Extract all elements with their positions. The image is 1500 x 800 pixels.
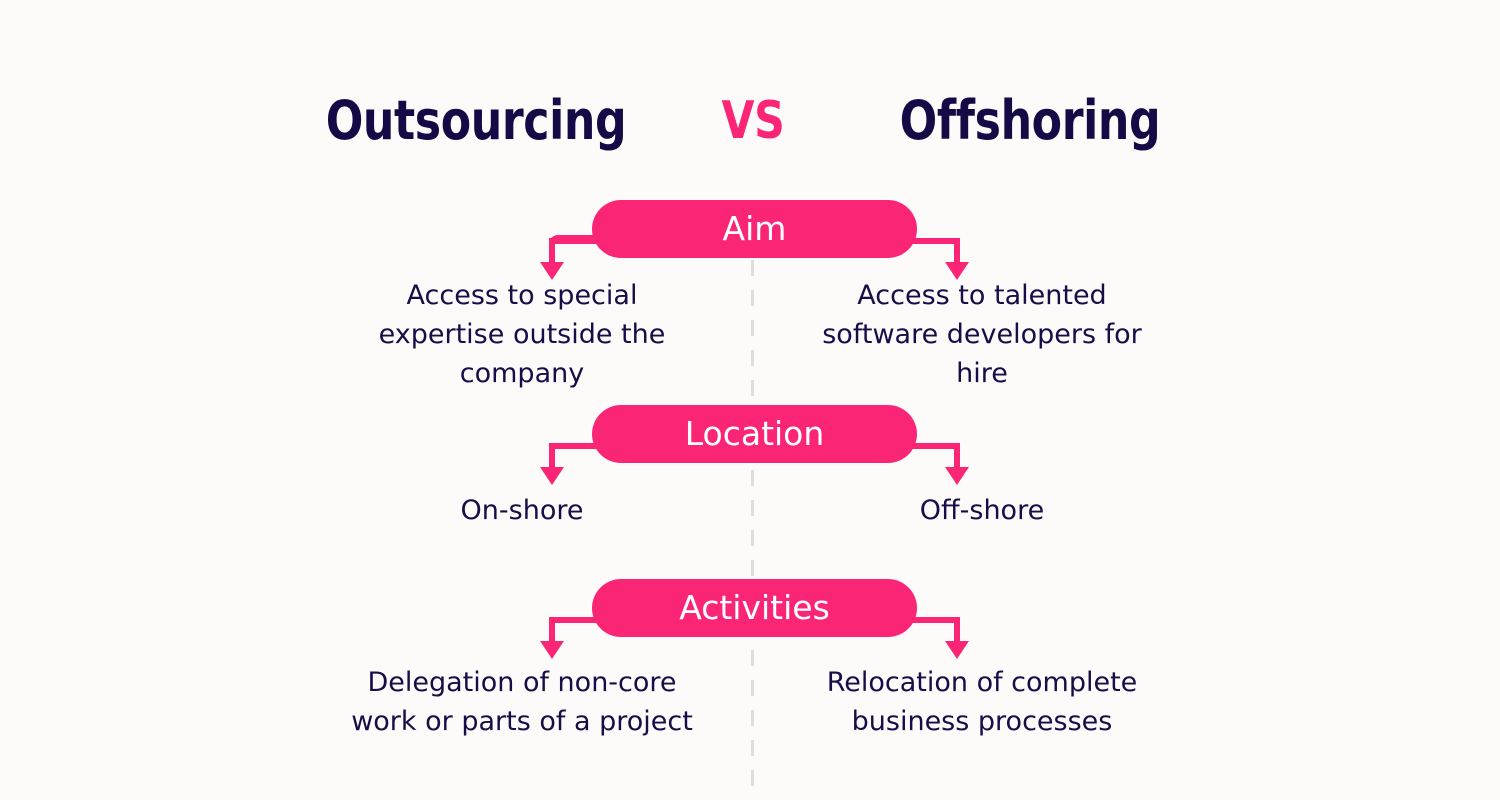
heading-offshoring: Offshoring [833, 78, 1227, 164]
arrow-left-aim [536, 228, 598, 286]
desc-left-activities: Delegation of non-core work or parts of … [322, 663, 722, 741]
desc-line: Delegation of non-core [322, 663, 722, 702]
desc-line: Relocation of complete [782, 663, 1182, 702]
arrow-left-activities [536, 607, 598, 665]
desc-line: expertise outside the [322, 315, 722, 354]
criterion-pill-aim: Aim [592, 200, 917, 258]
desc-line: Access to special [322, 276, 722, 315]
comparison-infographic: Outsourcing VS Offshoring Aim Access to … [0, 0, 1500, 800]
arrow-left-location [536, 433, 598, 491]
desc-line: On-shore [322, 491, 722, 530]
desc-line: business processes [782, 702, 1182, 741]
desc-line: company [322, 354, 722, 393]
arrow-right-location [911, 433, 973, 491]
desc-line: work or parts of a project [322, 702, 722, 741]
center-divider [751, 200, 754, 800]
arrow-right-activities [911, 607, 973, 665]
desc-line: Access to talented [782, 276, 1182, 315]
criterion-pill-activities: Activities [592, 579, 917, 637]
arrow-right-aim [911, 228, 973, 286]
heading-vs: VS [660, 78, 845, 164]
desc-right-location: Off-shore [782, 491, 1182, 530]
desc-right-activities: Relocation of complete business processe… [782, 663, 1182, 741]
desc-line: hire [782, 354, 1182, 393]
desc-line: Off-shore [782, 491, 1182, 530]
criterion-pill-location: Location [592, 405, 917, 463]
desc-left-location: On-shore [322, 491, 722, 530]
heading-outsourcing: Outsourcing [279, 78, 673, 164]
desc-right-aim: Access to talented software developers f… [782, 276, 1182, 393]
header: Outsourcing VS Offshoring [0, 78, 1500, 164]
desc-left-aim: Access to special expertise outside the … [322, 276, 722, 393]
desc-line: software developers for [782, 315, 1182, 354]
